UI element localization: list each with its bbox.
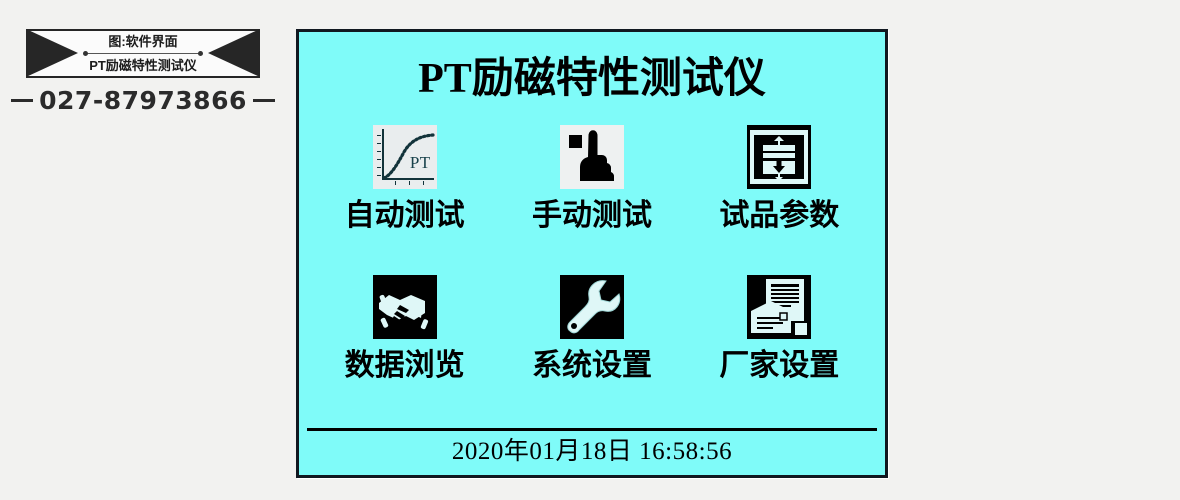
document-envelope-icon: [747, 275, 811, 339]
menu-item-manual-test[interactable]: 手动测试: [498, 125, 685, 275]
status-datetime: 2020年01月18日 16:58:56: [452, 431, 732, 467]
parameters-form-icon: [747, 125, 811, 189]
device-lcd-panel: PT励磁特性测试仪 PT 自动测试: [296, 29, 888, 478]
menu-label-system-settings: 系统设置: [532, 351, 652, 381]
pt-curve-label: PT: [410, 153, 431, 173]
pointing-hand-icon: [560, 125, 624, 189]
phone-left-dash: [11, 99, 33, 102]
caption-divider-rule: [83, 52, 203, 55]
phone-number: 027-87973866: [39, 86, 247, 115]
menu-label-auto-test: 自动测试: [345, 201, 465, 231]
caption-left-arrow-icon: [26, 29, 78, 77]
menu-item-factory-settings[interactable]: 厂家设置: [686, 275, 873, 425]
menu-label-data-browse: 数据浏览: [345, 351, 465, 381]
figure-caption-block: 图:软件界面 PT励磁特性测试仪: [26, 29, 260, 78]
caption-line-1: 图:软件界面: [78, 35, 208, 48]
main-menu-grid: PT 自动测试 手动测试: [311, 125, 873, 425]
caption-right-arrow-icon: [208, 29, 260, 77]
phone-right-dash: [253, 99, 275, 102]
menu-item-system-settings[interactable]: 系统设置: [498, 275, 685, 425]
pt-curve-chart-icon: PT: [373, 125, 437, 189]
handshake-icon: [373, 275, 437, 339]
wrench-icon: [560, 275, 624, 339]
menu-label-sample-parameters: 试品参数: [719, 201, 839, 231]
phone-number-line: 027-87973866: [22, 84, 264, 116]
menu-label-manual-test: 手动测试: [532, 201, 652, 231]
status-bar: 2020年01月18日 16:58:56: [307, 431, 877, 467]
menu-item-auto-test[interactable]: PT 自动测试: [311, 125, 498, 275]
menu-item-sample-parameters[interactable]: 试品参数: [686, 125, 873, 275]
caption-line-2: PT励磁特性测试仪: [78, 59, 208, 72]
menu-item-data-browse[interactable]: 数据浏览: [311, 275, 498, 425]
screen-title: PT励磁特性测试仪: [299, 58, 885, 100]
menu-label-factory-settings: 厂家设置: [719, 351, 839, 381]
